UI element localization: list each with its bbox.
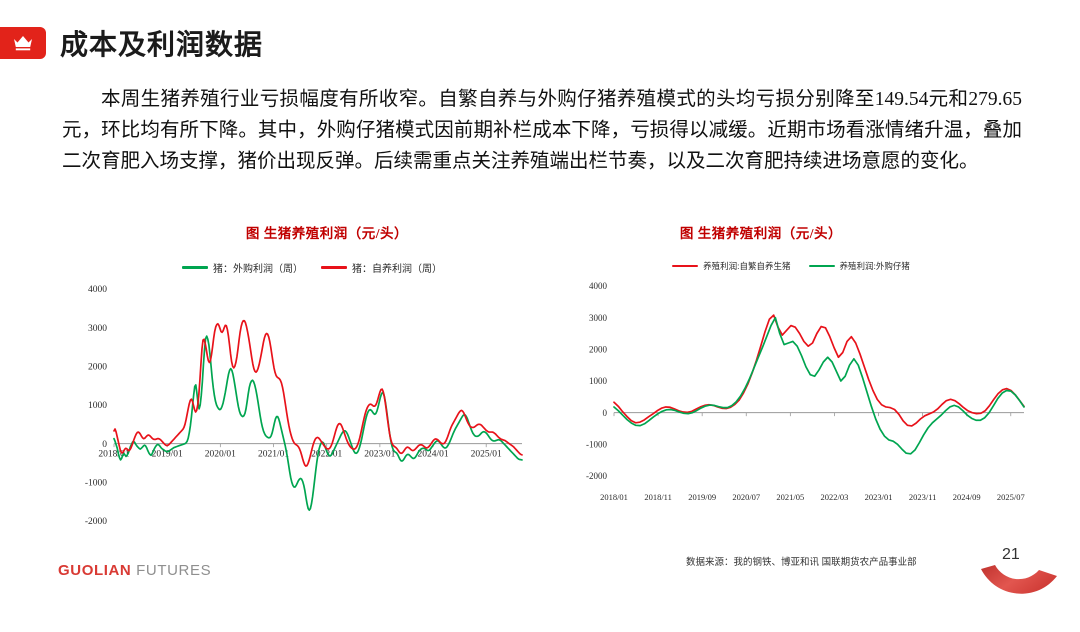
svg-text:2021/01: 2021/01 <box>258 450 289 460</box>
chart-left-plot: 40003000200010000-1000-20002018/012019/0… <box>62 281 552 529</box>
legend-item: 猪：自养利润（周） <box>321 260 442 275</box>
legend-label: 猪：自养利润（周） <box>352 260 442 275</box>
chart-right-title: 图 生猪养殖利润（元/头） <box>566 222 1046 242</box>
chart-right-legend: 养殖利润:自繁自养生猪 养殖利润:外购仔猪 <box>566 260 1046 272</box>
svg-text:2023/11: 2023/11 <box>909 492 937 502</box>
legend-item: 猪：外购利润（周） <box>182 260 303 275</box>
data-source-note: 数据来源：我的钢铁、博亚和讯 国联期货农产品事业部 <box>686 554 917 568</box>
chart-left: 图 生猪养殖利润（元/头） 猪：外购利润（周） 猪：自养利润（周） 400030… <box>62 222 552 532</box>
legend-item: 养殖利润:外购仔猪 <box>809 260 910 272</box>
svg-text:-2000: -2000 <box>586 471 607 481</box>
svg-text:2025/01: 2025/01 <box>471 450 502 460</box>
svg-text:2024/01: 2024/01 <box>417 450 448 460</box>
svg-text:0: 0 <box>603 408 608 418</box>
page-title: 成本及利润数据 <box>60 23 263 63</box>
crown-icon <box>0 27 46 59</box>
chart-left-legend: 猪：外购利润（周） 猪：自养利润（周） <box>62 260 552 275</box>
slide-header: 成本及利润数据 <box>0 18 263 68</box>
svg-text:3000: 3000 <box>589 313 608 323</box>
svg-text:2020/07: 2020/07 <box>732 492 760 502</box>
legend-swatch-red <box>672 265 698 268</box>
svg-text:-2000: -2000 <box>85 517 107 527</box>
legend-label: 猪：外购利润（周） <box>213 260 303 275</box>
svg-text:1000: 1000 <box>589 376 608 386</box>
svg-text:2023/01: 2023/01 <box>364 450 395 460</box>
logo-secondary: FUTURES <box>136 562 211 579</box>
chart-right: 图 生猪养殖利润（元/头） 养殖利润:自繁自养生猪 养殖利润:外购仔猪 4000… <box>566 222 1046 522</box>
svg-text:2020/01: 2020/01 <box>205 450 236 460</box>
chart-right-plot: 40003000200010000-1000-20002018/012018/1… <box>566 278 1046 506</box>
svg-text:3000: 3000 <box>88 324 107 334</box>
svg-text:2025/07: 2025/07 <box>997 492 1025 502</box>
logo-primary: GUOLIAN <box>58 562 131 579</box>
svg-text:2021/05: 2021/05 <box>776 492 804 502</box>
svg-text:0: 0 <box>102 440 107 450</box>
svg-text:4000: 4000 <box>88 285 107 295</box>
slide-root: 成本及利润数据 本周生猪养殖行业亏损幅度有所收窄。自繁自养与外购仔猪养殖模式的头… <box>0 0 1080 627</box>
svg-text:-1000: -1000 <box>586 440 607 450</box>
svg-text:-1000: -1000 <box>85 479 107 489</box>
svg-text:2023/01: 2023/01 <box>865 492 893 502</box>
brand-logo: GUOLIAN FUTURES <box>58 562 211 579</box>
svg-text:2000: 2000 <box>88 363 107 373</box>
legend-label: 养殖利润:自繁自养生猪 <box>703 260 790 272</box>
svg-text:2019/09: 2019/09 <box>688 492 716 502</box>
body-paragraph: 本周生猪养殖行业亏损幅度有所收窄。自繁自养与外购仔猪养殖模式的头均亏损分别降至1… <box>62 84 1022 177</box>
page-number: 21 <box>1002 546 1020 564</box>
chart-left-title: 图 生猪养殖利润（元/头） <box>62 222 552 242</box>
svg-text:2018/11: 2018/11 <box>644 492 672 502</box>
legend-label: 养殖利润:外购仔猪 <box>840 260 910 272</box>
svg-text:2000: 2000 <box>589 345 608 355</box>
legend-item: 养殖利润:自繁自养生猪 <box>672 260 790 272</box>
svg-text:2024/09: 2024/09 <box>953 492 981 502</box>
legend-swatch-red <box>321 266 347 269</box>
svg-text:4000: 4000 <box>589 281 608 291</box>
corner-arc-decoration <box>978 564 1070 632</box>
legend-swatch-green <box>182 266 208 269</box>
svg-text:2022/03: 2022/03 <box>820 492 848 502</box>
svg-text:1000: 1000 <box>88 401 107 411</box>
svg-text:2018/01: 2018/01 <box>600 492 628 502</box>
legend-swatch-green <box>809 265 835 268</box>
